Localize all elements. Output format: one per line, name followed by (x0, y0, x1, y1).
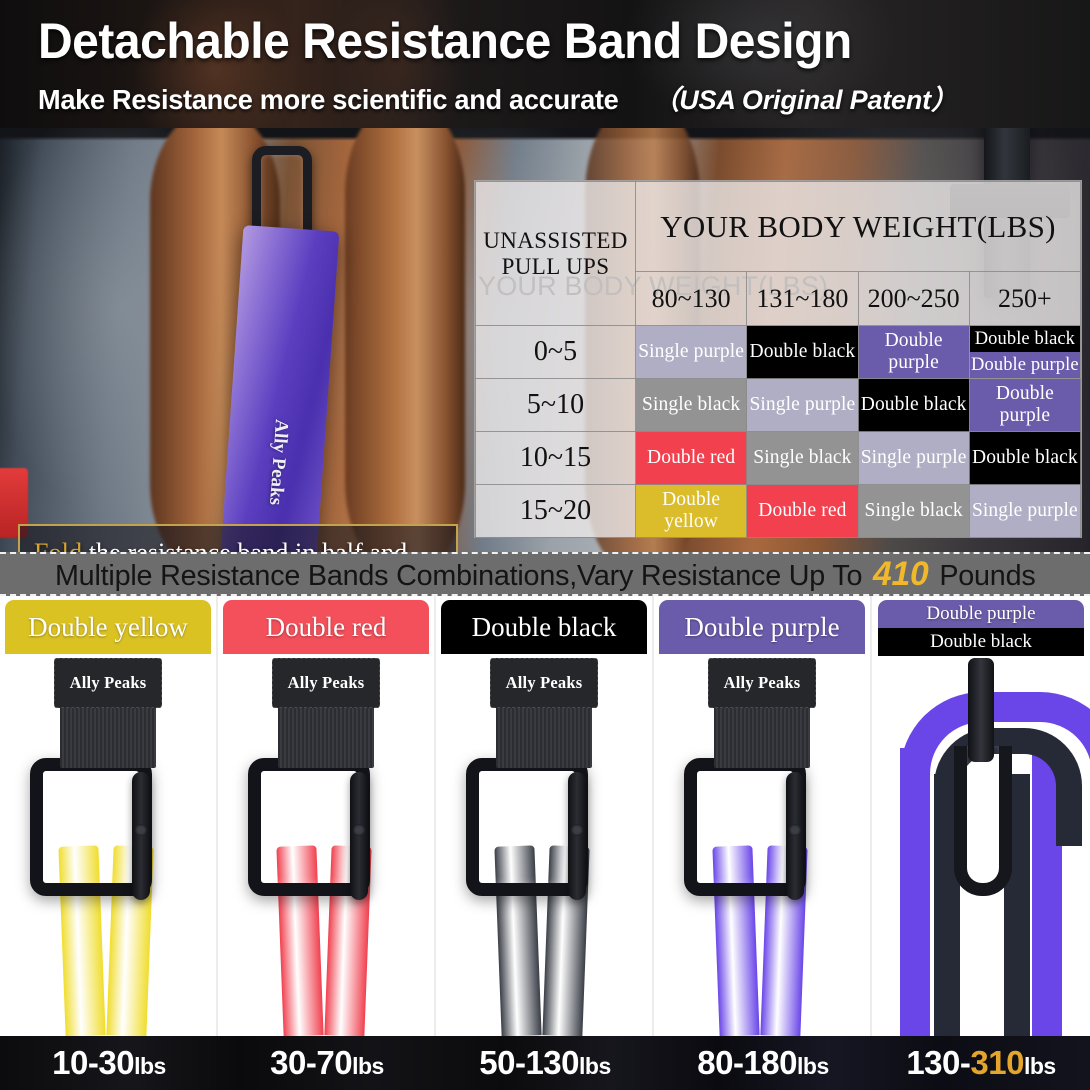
nylon-webbing (60, 706, 156, 768)
carabiner-gate-icon (568, 772, 586, 900)
recommendation-cell-bottom: Double purple (970, 352, 1080, 378)
weight-unit: lbs (134, 1053, 166, 1079)
table-row: 0~5Single purpleDouble blackDouble purpl… (476, 326, 1081, 379)
weight-range-header: 250+ (969, 272, 1080, 326)
weight-range-value: 10-30lbs (0, 1044, 218, 1082)
recommendation-cell: Double black (747, 326, 858, 379)
panel-label: Double red (223, 600, 429, 654)
panel-label: Double purple (659, 600, 865, 654)
combinations-banner: Multiple Resistance Bands Combinations,V… (0, 552, 1090, 596)
product-panels: Double yellowAlly PeaksDouble redAlly Pe… (0, 596, 1090, 1036)
recommendation-cell-top: Double black (970, 326, 1080, 352)
recommendation-cell: Single purple (636, 326, 747, 379)
product-panel: Double purpleAlly Peaks (654, 596, 872, 1036)
banner-text-before: Multiple Resistance Bands Combinations,V… (55, 560, 870, 592)
strap-brand-tag: Ally Peaks (708, 658, 816, 708)
pullup-count-label: 5~10 (476, 379, 636, 432)
callout-keyword: Fold (34, 538, 82, 552)
patent-note: （USA Original Patent） (652, 78, 957, 117)
fold-instruction-callout: Fold the resistance band in half and han… (18, 524, 458, 552)
product-panel: Double yellowAlly Peaks (0, 596, 218, 1036)
nylon-webbing (278, 706, 374, 768)
panel-label: Double black (441, 600, 647, 654)
carabiner-gate-icon (786, 772, 804, 900)
product-panel: Double blackAlly Peaks (436, 596, 654, 1036)
panel-label-stacked: Double purpleDouble black (878, 600, 1084, 656)
table-row: 5~10Single blackSingle purpleDouble blac… (476, 379, 1081, 432)
strap-brand-tag: Ally Peaks (490, 658, 598, 708)
weight-range-header: 80~130 (636, 272, 747, 326)
carabiner-gate-icon (132, 772, 150, 900)
weight-range-header: 200~250 (858, 272, 969, 326)
pullup-count-label: 10~15 (476, 432, 636, 485)
weight-unit: lbs (352, 1053, 384, 1079)
recommendation-cell: Double black (858, 379, 969, 432)
recommendation-cell: Single purple (747, 379, 858, 432)
banner-text-after: Pounds (931, 560, 1035, 592)
product-panel: Double purpleDouble black (872, 596, 1090, 1036)
strap-brand-tag: Ally Peaks (272, 658, 380, 708)
weight-range-value: 80-180lbs (654, 1044, 872, 1082)
nylon-webbing (496, 706, 592, 768)
recommendation-cell: Single purple (858, 432, 969, 485)
recommendation-cell: Double purple (969, 379, 1080, 432)
recommendation-cell: Single black (747, 432, 858, 485)
pullup-count-label: 15~20 (476, 485, 636, 538)
recommendation-cell: Double blackDouble purple (969, 326, 1080, 379)
recommendation-cell: Double red (636, 432, 747, 485)
panel-label: Double yellow (5, 600, 211, 654)
pullup-count-label: 0~5 (476, 326, 636, 379)
strap-brand-text: Ally Peaks (724, 673, 801, 693)
strap-brand-tag: Ally Peaks (54, 658, 162, 708)
table-row: 10~15Double redSingle blackSingle purple… (476, 432, 1081, 485)
athlete-leg (345, 128, 465, 552)
weight-range-header: 131~180 (747, 272, 858, 326)
table-header-row: UNASSISTEDPULL UPSYOUR BODY WEIGHT(LBS) (476, 182, 1081, 272)
nylon-webbing (714, 706, 810, 768)
body-weight-table: UNASSISTEDPULL UPSYOUR BODY WEIGHT(LBS)8… (474, 180, 1082, 538)
header-subtitle: Make Resistance more scientific and accu… (38, 84, 618, 116)
weight-range-value: 130-310lbs (872, 1044, 1090, 1082)
recommendation-cell: Single black (858, 485, 969, 538)
page-title: Detachable Resistance Band Design (38, 14, 1008, 69)
carabiner-clip-icon (968, 658, 994, 762)
recommendation-cell: Double black (969, 432, 1080, 485)
weight-range-strip: 10-30lbs30-70lbs50-130lbs80-180lbs130-31… (0, 1036, 1090, 1090)
product-panel: Double redAlly Peaks (218, 596, 436, 1036)
strap-brand-text: Ally Peaks (288, 673, 365, 693)
recommendation-cell: Single purple (969, 485, 1080, 538)
weight-unit: lbs (797, 1053, 829, 1079)
panel-label-top: Double purple (878, 600, 1084, 628)
table-corner-label: UNASSISTEDPULL UPS (476, 182, 636, 326)
callout-text: the resistance band in half and hang it … (34, 538, 407, 552)
weight-unit: lbs (1024, 1053, 1056, 1079)
strap-brand-text: Ally Peaks (506, 673, 583, 693)
combined-band-assembly (872, 654, 1090, 1036)
carabiner-gate-icon (350, 772, 368, 900)
header-subtitle-row: Make Resistance more scientific and accu… (38, 78, 1058, 117)
panel-label-bottom: Double black (878, 628, 1084, 656)
weight-unit: lbs (579, 1053, 611, 1079)
strap-brand-text: Ally Peaks (70, 673, 147, 693)
weight-range-value: 30-70lbs (218, 1044, 436, 1082)
recommendation-cell: Double purple (858, 326, 969, 379)
recommendation-cell: Single black (636, 379, 747, 432)
recommendation-cell: Double yellow (636, 485, 747, 538)
table-row: 15~20Double yellowDouble redSingle black… (476, 485, 1081, 538)
combinations-banner-text: Multiple Resistance Bands Combinations,V… (55, 555, 1036, 594)
recommendation-cell: Double red (747, 485, 858, 538)
carabiner-hook-icon (954, 746, 1012, 896)
table-main-header: YOUR BODY WEIGHT(LBS) (636, 182, 1081, 272)
header-banner: Detachable Resistance Band Design Make R… (0, 0, 1090, 128)
weight-range-value: 50-130lbs (436, 1044, 654, 1082)
weight-highlight: 310 (970, 1044, 1024, 1081)
banner-max-weight: 410 (870, 555, 932, 593)
